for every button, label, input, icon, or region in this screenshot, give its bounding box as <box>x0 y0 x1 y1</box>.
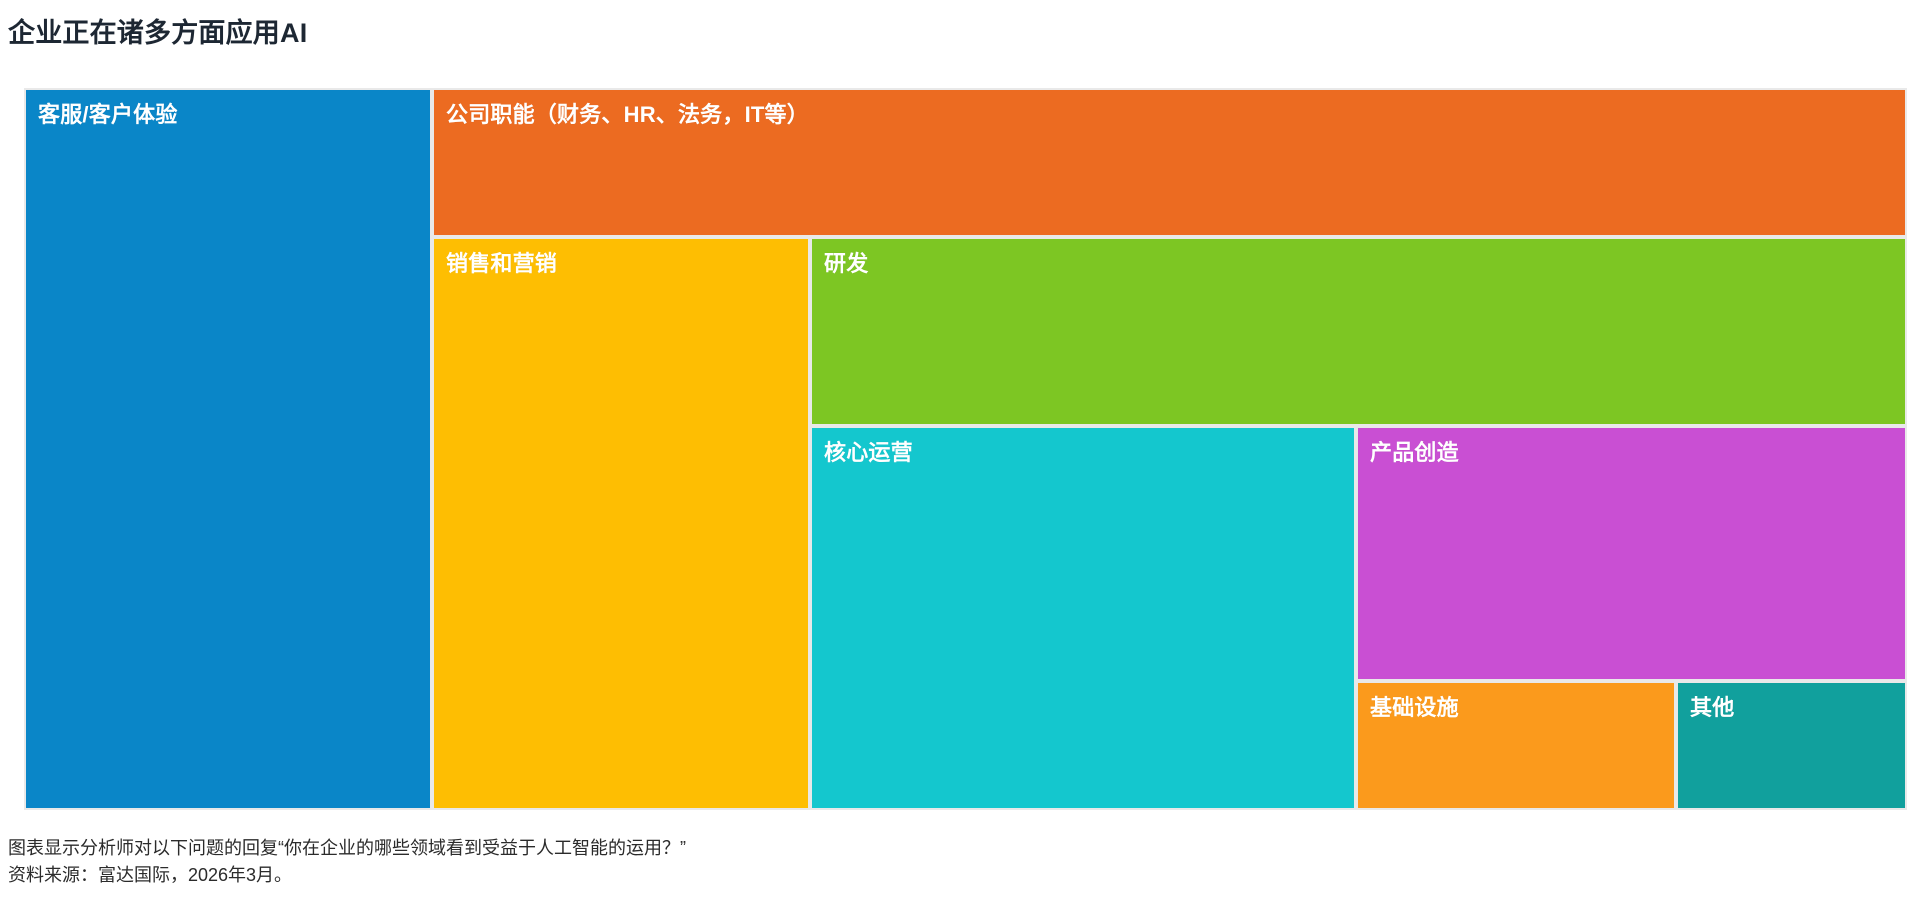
treemap-tile-label: 客服/客户体验 <box>38 97 178 129</box>
treemap-tile-corporate-functions[interactable]: 公司职能（财务、HR、法务，IT等） <box>434 90 1905 235</box>
treemap-tile-product-creation[interactable]: 产品创造 <box>1358 428 1905 679</box>
chart-page: 企业正在诸多方面应用AI 客服/客户体验 公司职能（财务、HR、法务，IT等） … <box>0 0 1925 917</box>
treemap-tile-customer-service[interactable]: 客服/客户体验 <box>26 90 430 808</box>
treemap-tile-label: 研发 <box>824 246 868 278</box>
footnote-source: 资料来源：富达国际，2026年3月。 <box>8 862 1508 889</box>
treemap-tile-label: 基础设施 <box>1370 690 1459 722</box>
treemap-tile-label: 核心运营 <box>824 435 913 467</box>
treemap-chart: 客服/客户体验 公司职能（财务、HR、法务，IT等） 销售和营销 研发 核心运营… <box>24 88 1907 810</box>
treemap-tile-label: 公司职能（财务、HR、法务，IT等） <box>446 97 809 129</box>
treemap-tile-label: 销售和营销 <box>446 246 557 278</box>
treemap-tile-label: 其他 <box>1690 690 1734 722</box>
treemap-tile-research-development[interactable]: 研发 <box>812 239 1905 424</box>
treemap-tile-core-operations[interactable]: 核心运营 <box>812 428 1354 808</box>
treemap-tile-sales-marketing[interactable]: 销售和营销 <box>434 239 808 808</box>
treemap-tile-infrastructure[interactable]: 基础设施 <box>1358 683 1674 808</box>
chart-footnotes: 图表显示分析师对以下问题的回复“你在企业的哪些领域看到受益于人工智能的运用？” … <box>8 835 1508 889</box>
treemap-tile-other[interactable]: 其他 <box>1678 683 1905 808</box>
treemap-tile-label: 产品创造 <box>1370 435 1459 467</box>
footnote-question: 图表显示分析师对以下问题的回复“你在企业的哪些领域看到受益于人工智能的运用？” <box>8 835 1508 862</box>
page-title: 企业正在诸多方面应用AI <box>8 11 307 50</box>
